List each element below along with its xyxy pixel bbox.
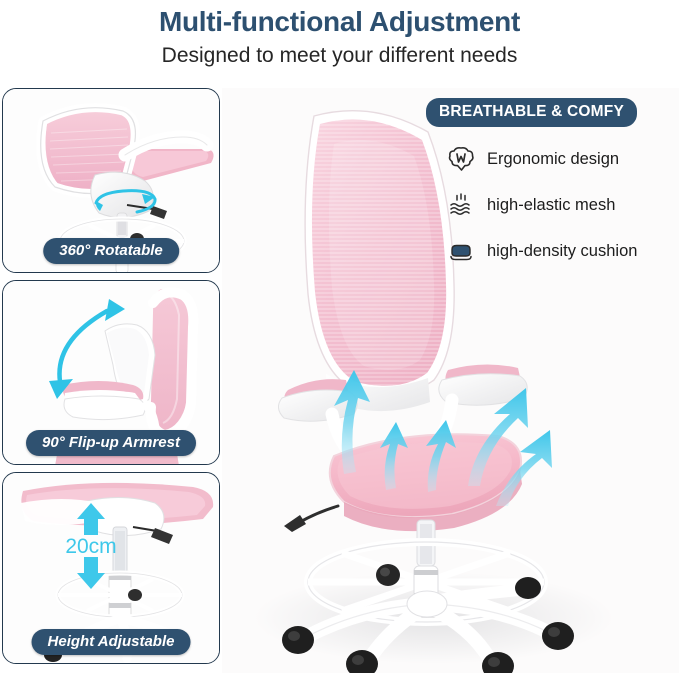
panel-badge-height: Height Adjustable: [32, 629, 191, 655]
feature-label-cushion: high-density cushion: [487, 241, 637, 261]
feature-item-mesh: high-elastic mesh: [446, 182, 678, 228]
feature-list: Ergonomic design: [446, 136, 678, 274]
feature-panel-armrest: 90° Flip-up Armrest: [2, 280, 220, 465]
height-measurement-label: 20cm: [65, 535, 116, 558]
comfy-badge: BREATHABLE & COMFY: [426, 98, 637, 127]
feature-item-cushion: high-density cushion: [446, 228, 678, 274]
feature-panel-height: 20cm Height Adjustable: [2, 472, 220, 664]
feature-item-ergonomic: Ergonomic design: [446, 136, 678, 182]
header: Multi-functional Adjustment Designed to …: [0, 0, 679, 71]
page-subtitle: Designed to meet your different needs: [0, 41, 679, 71]
cushion-icon: [446, 236, 476, 266]
feature-panel-rotatable: 360° Rotatable: [2, 88, 220, 273]
airflow-mesh-icon: [446, 190, 476, 220]
main-chair-stage: BREATHABLE & COMFY Ergonomic design: [222, 88, 679, 673]
feature-label-mesh: high-elastic mesh: [487, 195, 615, 215]
panel-badge-rotatable: 360° Rotatable: [43, 238, 179, 264]
page-title: Multi-functional Adjustment: [0, 5, 679, 39]
cotton-ergonomic-icon: [446, 144, 476, 174]
feature-label-ergonomic: Ergonomic design: [487, 149, 619, 169]
content-area: 360° Rotatable: [0, 88, 679, 673]
panel-badge-armrest: 90° Flip-up Armrest: [26, 430, 196, 456]
